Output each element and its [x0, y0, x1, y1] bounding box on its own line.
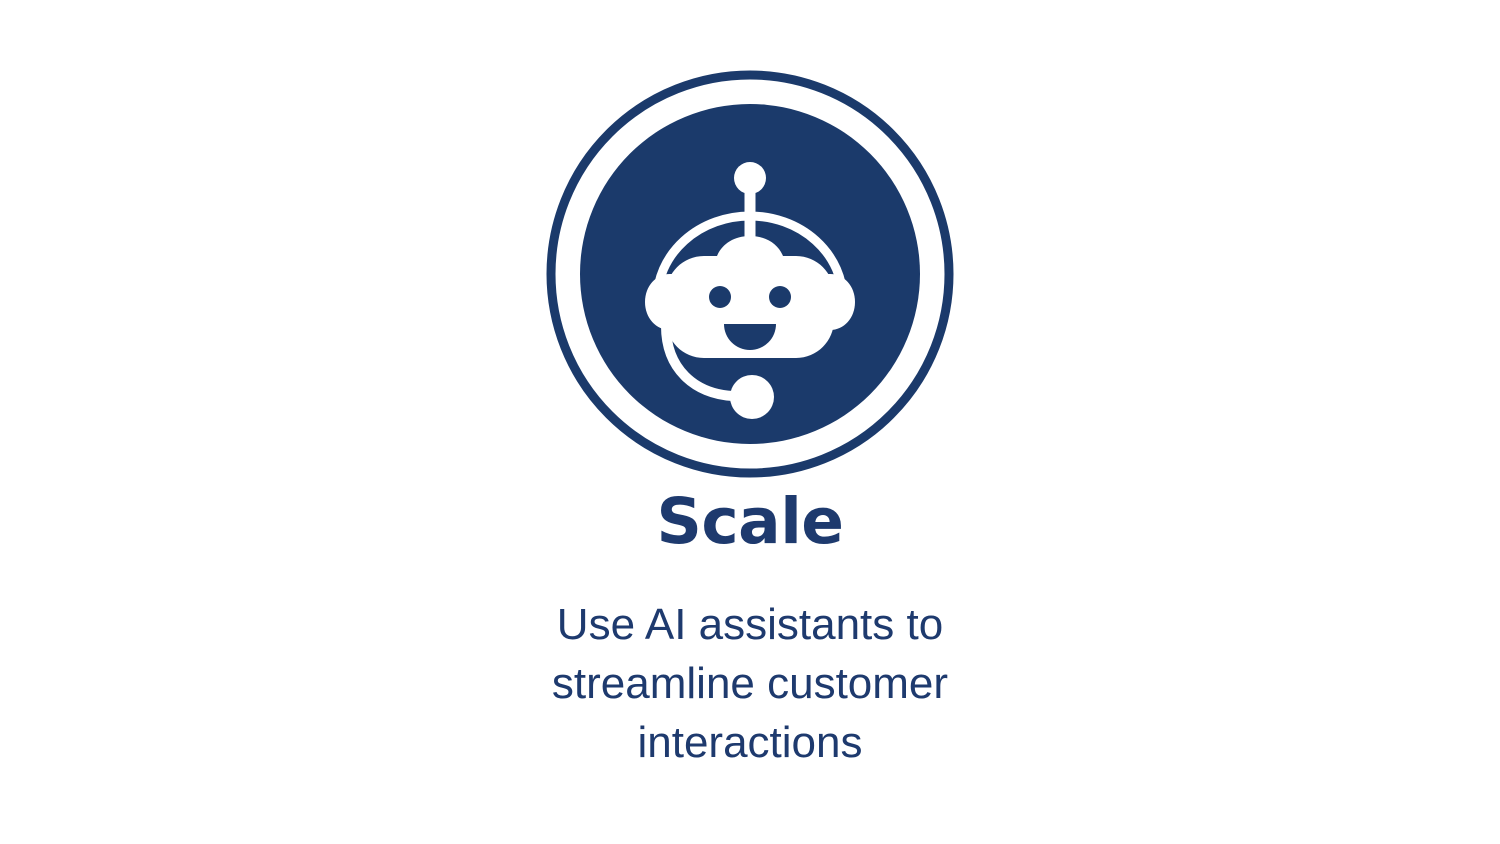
feature-subtitle-line-2: streamline customer: [470, 655, 1030, 714]
feature-title: Scale: [0, 489, 1500, 555]
robot-mic-ball: [730, 375, 774, 419]
feature-subtitle: Use AI assistants to streamline customer…: [470, 596, 1030, 773]
feature-subtitle-line-3: interactions: [470, 714, 1030, 773]
support-robot-headset-icon: [544, 68, 956, 480]
badge-icon-container: [544, 68, 956, 480]
feature-subtitle-line-1: Use AI assistants to: [470, 596, 1030, 655]
robot-eye-left: [709, 286, 731, 308]
scale-feature-card: Scale Use AI assistants to streamline cu…: [0, 0, 1500, 844]
robot-antenna-ball: [734, 162, 766, 194]
robot-eye-right: [769, 286, 791, 308]
